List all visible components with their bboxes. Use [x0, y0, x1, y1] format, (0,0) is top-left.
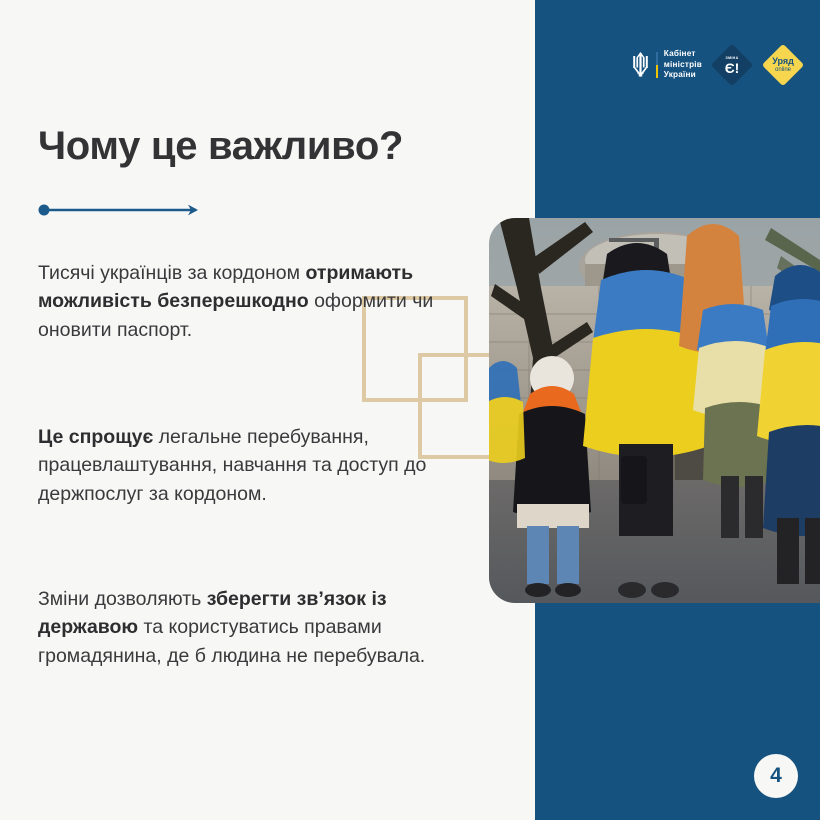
slide-root: Кабінет міністрів України ЗМІНА Є! Уряд … — [0, 0, 820, 820]
uryad-label: Уряд — [772, 57, 794, 66]
online-label: online — [775, 67, 791, 73]
ukraine-trident-emblem-icon — [631, 50, 650, 80]
photo-people-with-ukrainian-flags — [489, 218, 820, 603]
ye-mark-label: Є! — [725, 61, 740, 75]
page-number-badge: 4 — [754, 754, 798, 798]
logo-bar: Кабінет міністрів України ЗМІНА Є! Уряд … — [631, 44, 804, 86]
uryad-online-logo: Уряд online — [762, 44, 804, 86]
zmina-label: ЗМІНА — [726, 56, 739, 60]
logo-divider — [656, 52, 658, 78]
photo-illustration — [489, 218, 820, 603]
cabinet-of-ministers-label: Кабінет міністрів України — [664, 49, 702, 81]
zmina-ye-logo: ЗМІНА Є! — [711, 44, 753, 86]
page-title: Чому це важливо? — [38, 124, 498, 168]
cabinet-of-ministers-logo: Кабінет міністрів України — [631, 49, 702, 81]
paragraph-1: Тисячі українців за кордоном отримають м… — [38, 259, 446, 344]
paragraph-2: Це спрощує легальне перебування, працевл… — [38, 423, 446, 508]
paragraph-3: Зміни дозволяють зберегти зв’язок із дер… — [38, 585, 446, 670]
arrow-divider-icon — [38, 200, 208, 220]
